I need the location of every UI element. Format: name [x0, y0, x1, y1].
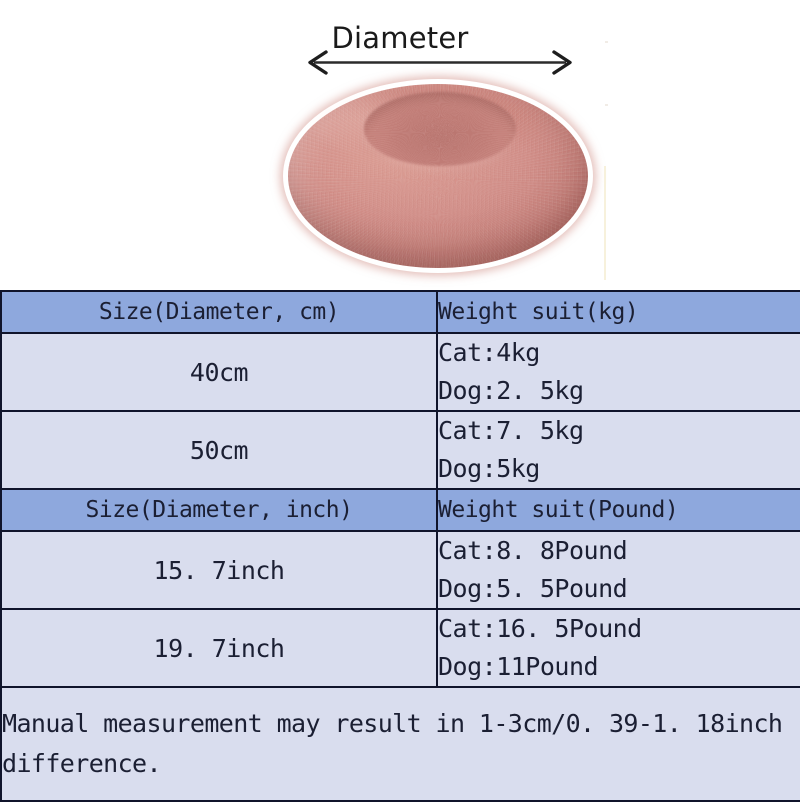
photo-artifact-dot — [605, 41, 608, 43]
cat-weight-line: Cat:7. 5kg — [438, 412, 800, 450]
round-plush-pet-bed-image — [288, 76, 588, 268]
header-cell-size-cm: Size(Diameter, cm) — [1, 291, 437, 333]
cat-weight-line: Cat:8. 8Pound — [438, 532, 800, 570]
measurement-disclaimer-cell: Manual measurement may result in 1-3cm/0… — [1, 687, 800, 801]
table-row: 40cm Cat:4kg Dog:2. 5kg — [1, 333, 800, 411]
pet-bed-inner-nest-fur — [364, 92, 516, 166]
table-header-row-imperial: Size(Diameter, inch) Weight suit(Pound) — [1, 489, 800, 531]
cell-weight-15-7inch: Cat:8. 8Pound Dog:5. 5Pound — [437, 531, 800, 609]
product-image-panel: Diameter — [0, 0, 800, 290]
dog-weight-line: Dog:2. 5kg — [438, 372, 800, 410]
table-header-row-metric: Size(Diameter, cm) Weight suit(kg) — [1, 291, 800, 333]
photo-artifact-dot — [605, 104, 608, 106]
cell-size-15-7inch: 15. 7inch — [1, 531, 437, 609]
cell-size-40cm: 40cm — [1, 333, 437, 411]
size-specification-table: Size(Diameter, cm) Weight suit(kg) 40cm … — [0, 290, 800, 802]
dog-weight-line: Dog:5kg — [438, 450, 800, 488]
cat-weight-line: Cat:4kg — [438, 334, 800, 372]
dog-weight-line: Dog:5. 5Pound — [438, 570, 800, 608]
table-row: 50cm Cat:7. 5kg Dog:5kg — [1, 411, 800, 489]
cell-weight-19-7inch: Cat:16. 5Pound Dog:11Pound — [437, 609, 800, 687]
header-cell-size-inch: Size(Diameter, inch) — [1, 489, 437, 531]
dog-weight-line: Dog:11Pound — [438, 648, 800, 686]
cell-size-19-7inch: 19. 7inch — [1, 609, 437, 687]
photo-artifact-line — [604, 166, 606, 280]
cell-weight-50cm: Cat:7. 5kg Dog:5kg — [437, 411, 800, 489]
table-row: 19. 7inch Cat:16. 5Pound Dog:11Pound — [1, 609, 800, 687]
header-cell-weight-pound: Weight suit(Pound) — [437, 489, 800, 531]
table-note-row: Manual measurement may result in 1-3cm/0… — [1, 687, 800, 801]
table-row: 15. 7inch Cat:8. 8Pound Dog:5. 5Pound — [1, 531, 800, 609]
cat-weight-line: Cat:16. 5Pound — [438, 610, 800, 648]
size-chart-page: Diameter Size(Diameter, cm) Weight suit(… — [0, 0, 800, 800]
header-cell-weight-kg: Weight suit(kg) — [437, 291, 800, 333]
cell-size-50cm: 50cm — [1, 411, 437, 489]
cell-weight-40cm: Cat:4kg Dog:2. 5kg — [437, 333, 800, 411]
measurement-disclaimer-text: Manual measurement may result in 1-3cm/0… — [2, 704, 800, 784]
